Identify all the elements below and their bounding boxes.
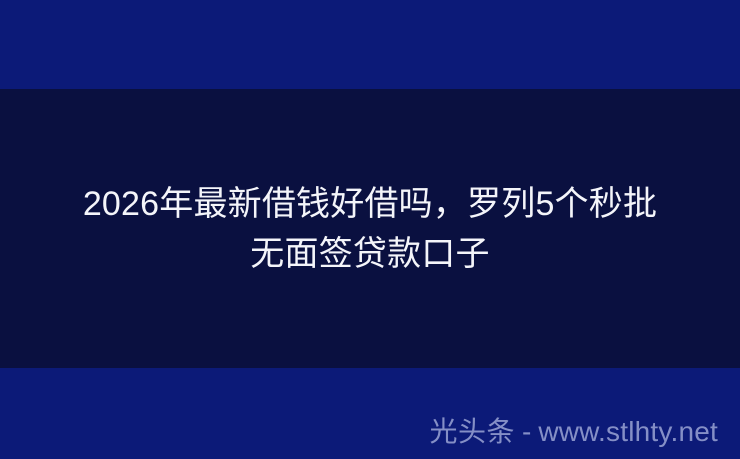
- title-card: 2026年最新借钱好借吗，罗列5个秒批 无面签贷款口子 光头条 - www.st…: [0, 0, 740, 459]
- top-color-band: [0, 0, 740, 89]
- watermark-separator: -: [515, 415, 538, 449]
- headline-line-2: 无面签贷款口子: [26, 229, 714, 279]
- site-watermark: 光头条 - www.stlhty.net: [429, 415, 718, 449]
- watermark-url: www.stlhty.net: [538, 415, 718, 449]
- watermark-brand: 光头条: [429, 415, 515, 449]
- headline-line-1: 2026年最新借钱好借吗，罗列5个秒批: [26, 179, 714, 229]
- headline-block: 2026年最新借钱好借吗，罗列5个秒批 无面签贷款口子: [0, 89, 740, 368]
